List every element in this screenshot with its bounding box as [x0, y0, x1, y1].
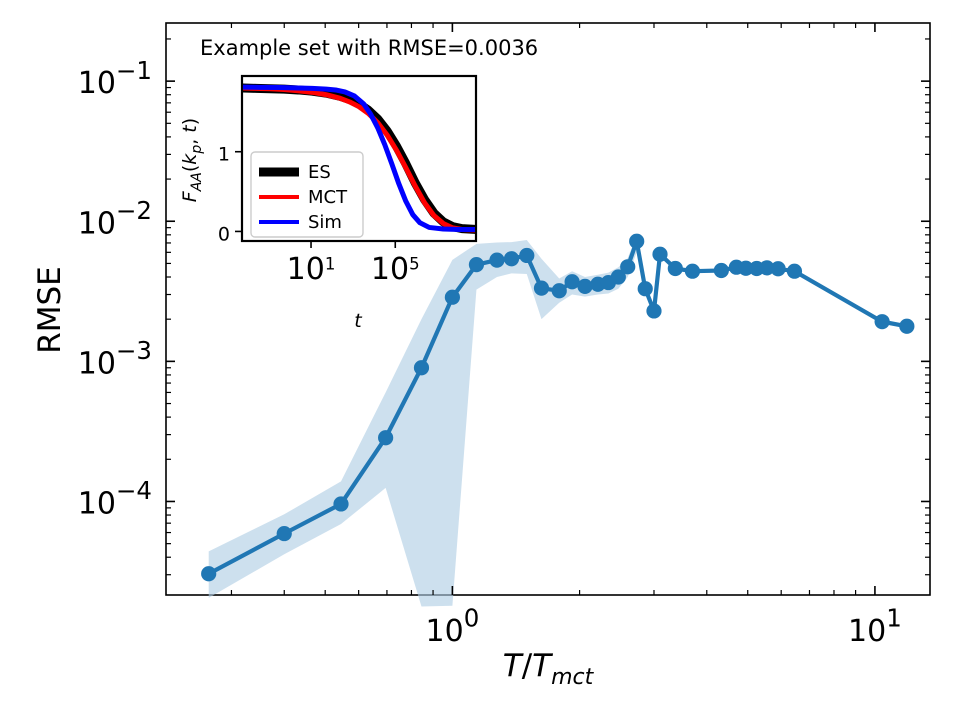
x-axis-label: T/Tmct: [503, 648, 595, 690]
legend-label-mct: MCT: [308, 187, 348, 208]
legend-label-es: ES: [308, 162, 331, 183]
data-point[interactable]: [534, 281, 549, 296]
data-point[interactable]: [685, 264, 700, 279]
svg-text:101: 101: [848, 604, 902, 649]
data-point[interactable]: [414, 360, 429, 375]
data-point[interactable]: [469, 257, 484, 272]
data-point[interactable]: [620, 259, 635, 274]
legend-label-sim: Sim: [308, 212, 342, 233]
svg-text:10−1: 10−1: [78, 56, 152, 101]
data-point[interactable]: [668, 261, 683, 276]
svg-text:0: 0: [218, 223, 230, 245]
data-point[interactable]: [489, 253, 504, 268]
inset-x-axis-label: t: [354, 310, 363, 332]
data-point[interactable]: [333, 496, 348, 511]
plot-canvas: 10010110−110−210−310−4 RMSE T/Tmct Examp…: [0, 0, 960, 720]
data-point[interactable]: [652, 247, 667, 262]
inset-legend[interactable]: ESMCTSim: [251, 152, 363, 237]
svg-text:10−2: 10−2: [78, 196, 152, 241]
data-point[interactable]: [629, 234, 644, 249]
y-axis-label: RMSE: [32, 266, 68, 354]
data-point[interactable]: [771, 261, 786, 276]
svg-text:10−4: 10−4: [78, 476, 152, 521]
data-point[interactable]: [504, 251, 519, 266]
data-point[interactable]: [565, 274, 580, 289]
svg-text:105: 105: [371, 252, 420, 287]
data-point[interactable]: [519, 248, 534, 263]
svg-text:1: 1: [218, 144, 230, 166]
svg-text:101: 101: [287, 252, 336, 287]
inset-title: Example set with RMSE=0.0036: [200, 36, 538, 60]
data-point[interactable]: [875, 314, 890, 329]
svg-text:10−3: 10−3: [78, 336, 152, 381]
data-point[interactable]: [378, 430, 393, 445]
data-point[interactable]: [552, 283, 567, 298]
svg-text:T/Tmct: T/Tmct: [503, 648, 595, 690]
figure-root: 10010110−110−210−310−4 RMSE T/Tmct Examp…: [0, 0, 960, 720]
inset-plot: Example set with RMSE=0.0036 10110501 FA…: [179, 36, 538, 332]
data-point[interactable]: [714, 263, 729, 278]
data-point[interactable]: [787, 264, 802, 279]
data-point[interactable]: [277, 526, 292, 541]
data-point[interactable]: [638, 281, 653, 296]
data-point[interactable]: [201, 566, 216, 581]
data-point[interactable]: [445, 290, 460, 305]
svg-text:100: 100: [426, 604, 480, 649]
data-point[interactable]: [577, 279, 592, 294]
inset-y-axis-label: FAA(kp, t): [179, 118, 205, 202]
data-point[interactable]: [899, 319, 914, 334]
data-point[interactable]: [646, 303, 661, 318]
